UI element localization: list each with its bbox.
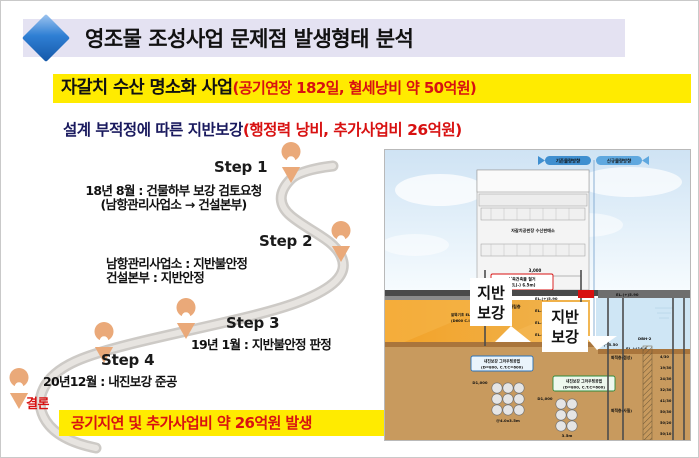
step-1-label: Step 1 <box>214 158 267 176</box>
step-2-line-1: 남항관리사업소 : 지반불안정 <box>106 257 321 271</box>
conclusion-text: 공기지연 및 추가사업비 약 26억원 발생 <box>71 411 312 435</box>
svg-text:4/30: 4/30 <box>660 355 669 359</box>
svg-text:신규물량방향: 신규물량방향 <box>607 158 631 165</box>
step-2-label: Step 2 <box>259 232 312 250</box>
svg-text:32/30: 32/30 <box>660 388 672 392</box>
svg-text:내진보강 그라우팅공법: 내진보강 그라우팅공법 <box>484 358 521 363</box>
svg-text:EL.(+)5.90: EL.(+)5.90 <box>535 296 558 301</box>
svg-text:50/20: 50/20 <box>660 421 672 425</box>
step-3-line-1: 19년 1월 : 지반불안정 판정 <box>191 338 376 352</box>
svg-text:(D=800, C.T.C=600): (D=800, C.T.C=600) <box>481 364 523 369</box>
svg-text:EL.(+)5.90: EL.(+)5.90 <box>616 292 639 297</box>
svg-text:(D=800, C.T.C=600): (D=800, C.T.C=600) <box>563 384 605 389</box>
step-1-description: 18년 8월 : 건물하부 보강 검토요청 (남항관리사업소 → 건설본부) <box>61 184 286 212</box>
step-4-label: Step 4 <box>101 351 154 369</box>
step-1-line-1: 18년 8월 : 건물하부 보강 검토요청 <box>61 184 286 198</box>
building-caption: 자갈치공판장 수산판매소 <box>511 227 555 234</box>
strata-note-4: 퇴적층(사질) <box>611 408 632 413</box>
blue-note: 내진보강 그라우팅공법 (D=800, C.T.C=600) <box>471 356 533 371</box>
step-3-description: 19년 1월 : 지반불안정 판정 <box>191 338 376 352</box>
green-note: 내진보강 그라우팅공법 (D=800, C.T.C=600) <box>553 376 615 391</box>
step-4-description: 20년12월 : 내진보강 준공 <box>43 375 243 389</box>
svg-text:지반: 지반 <box>551 308 579 326</box>
flow-path-graphic <box>1 1 381 458</box>
svg-text:내진보강 그라우팅공법: 내진보강 그라우팅공법 <box>566 378 603 383</box>
svg-text:3.5m: 3.5m <box>562 433 573 438</box>
svg-text:D1,000: D1,000 <box>537 396 553 401</box>
step-3-label: Step 3 <box>226 314 279 332</box>
svg-text:@4.0x3.5m: @4.0x3.5m <box>496 418 520 423</box>
step-2-line-2: 건설본부 : 지반안정 <box>106 271 321 285</box>
conclusion-label: 결론 <box>26 393 49 412</box>
svg-text:보강: 보강 <box>551 328 579 346</box>
step-2-description: 남항관리사업소 : 지반불안정 건설본부 : 지반안정 <box>106 257 321 285</box>
svg-text:지반: 지반 <box>477 284 505 302</box>
svg-text:(EL(-) 6.5m): (EL(-) 6.5m) <box>509 283 536 288</box>
svg-text:DBH-2: DBH-2 <box>638 336 652 341</box>
slide-canvas: 영조물 조성사업 문제점 발생형태 분석 자갈치 수산 명소화 사업(공기연장 … <box>0 0 699 458</box>
strata-note-3: 퇴적층(점성) <box>611 355 632 360</box>
svg-text:50/30: 50/30 <box>660 410 672 414</box>
dimension-label: 3,000 <box>529 268 542 273</box>
svg-text:24/30: 24/30 <box>660 377 672 381</box>
svg-text:기존물량방향: 기존물량방향 <box>556 158 580 165</box>
svg-text:50/10: 50/10 <box>660 432 672 436</box>
svg-text:보강: 보강 <box>477 304 505 322</box>
svg-text:신축건축물 철거: 신축건축물 철거 <box>508 276 535 282</box>
step-4-line-1: 20년12월 : 내진보강 준공 <box>43 375 243 389</box>
cross-section-diagram: 자갈치공판장 수산판매소 기존물량방향 신규물량방향 3,000 신축건축물 철… <box>384 149 691 441</box>
step-1-line-2: (남항관리사업소 → 건설본부) <box>61 198 286 212</box>
svg-text:19/30: 19/30 <box>660 366 672 370</box>
svg-text:D1,000: D1,000 <box>472 380 488 385</box>
svg-text:41/30: 41/30 <box>660 399 672 403</box>
